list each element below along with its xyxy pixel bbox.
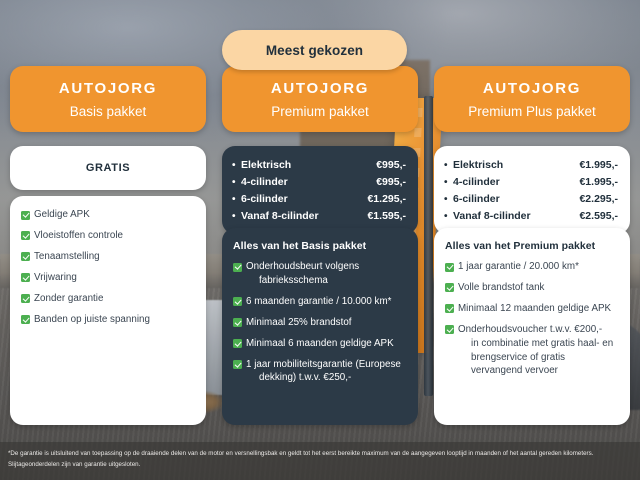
- plan-name-premium: Premium pakket: [230, 104, 410, 119]
- bullet-icon: •: [232, 177, 241, 188]
- price-row: •6-cilinder €1.295,-: [232, 190, 406, 207]
- feature-label: 1 jaar mobiliteitsgarantie (Europesedekk…: [246, 358, 401, 386]
- check-icon: [233, 339, 242, 348]
- check-icon: [445, 263, 454, 272]
- feature-item: 1 jaar garantie / 20.000 km*: [445, 260, 619, 274]
- check-icon: [21, 211, 30, 220]
- feature-label: Vrijwaring: [34, 271, 77, 285]
- bullet-icon: •: [444, 160, 453, 171]
- check-icon: [21, 252, 30, 261]
- feature-item: Tenaamstelling: [21, 250, 195, 264]
- price-row-label: •4-cilinder: [232, 176, 288, 188]
- feature-label: Onderhoudsvoucher t.w.v. €200,-in combin…: [458, 323, 619, 379]
- feature-item: Volle brandstof tank: [445, 281, 619, 295]
- price-row-label: •6-cilinder: [444, 193, 500, 205]
- feature-label: Banden op juiste spanning: [34, 313, 150, 327]
- feature-item: Vloeistoffen controle: [21, 229, 195, 243]
- bullet-icon: •: [444, 177, 453, 188]
- bullet-icon: •: [232, 211, 241, 222]
- price-row-label: •4-cilinder: [444, 176, 500, 188]
- feature-label: 6 maanden garantie / 10.000 km*: [246, 295, 392, 309]
- feature-item: Geldige APK: [21, 208, 195, 222]
- feature-label: Onderhoudsbeurt volgensfabrieksschema: [246, 260, 359, 288]
- plan-brand-basis: AUTOJORG: [18, 80, 198, 97]
- price-row-value: €1.995,-: [579, 176, 618, 188]
- bullet-icon: •: [444, 211, 453, 222]
- footer-disclaimer-text: *De garantie is uitsluitend van toepassi…: [8, 448, 632, 470]
- price-row-label: •Elektrisch: [444, 159, 503, 171]
- feature-label: Geldige APK: [34, 208, 90, 222]
- feature-item: Minimaal 6 maanden geldige APK: [233, 337, 407, 351]
- price-panel-basis: GRATIS: [10, 146, 206, 190]
- feature-item: 6 maanden garantie / 10.000 km*: [233, 295, 407, 309]
- price-row: •4-cilinder €995,-: [232, 173, 406, 190]
- feature-item: Zonder garantie: [21, 292, 195, 306]
- feature-item: Onderhoudsvoucher t.w.v. €200,-in combin…: [445, 323, 619, 379]
- feature-label: Volle brandstof tank: [458, 281, 544, 295]
- features-panel-premium-plus: Alles van het Premium pakket 1 jaar gara…: [434, 228, 630, 425]
- feature-label: Minimaal 6 maanden geldige APK: [246, 337, 394, 351]
- features-panel-premium: Alles van het Basis pakket Onderhoudsbeu…: [222, 228, 418, 425]
- feature-item: Banden op juiste spanning: [21, 313, 195, 327]
- price-row-value: €1.595,-: [367, 210, 406, 222]
- check-icon: [233, 318, 242, 327]
- feature-item: Minimaal 25% brandstof: [233, 316, 407, 330]
- check-icon: [445, 283, 454, 292]
- footer-disclaimer: *De garantie is uitsluitend van toepassi…: [0, 442, 640, 480]
- price-row-label: •6-cilinder: [232, 193, 288, 205]
- feature-label: Vloeistoffen controle: [34, 229, 123, 243]
- price-row: •Elektrisch €1.995,-: [444, 156, 618, 173]
- price-panel-premium-plus: •Elektrisch €1.995,- •4-cilinder €1.995,…: [434, 146, 630, 234]
- price-row-value: €995,-: [376, 176, 406, 188]
- plan-header-premium: AUTOJORG Premium pakket: [222, 66, 418, 132]
- pricing-board: Meest gekozen AUTOJORG Basis pakket GRAT…: [0, 0, 640, 480]
- price-row-value: €2.295,-: [579, 193, 618, 205]
- price-row-value: €995,-: [376, 159, 406, 171]
- plan-brand-premium: AUTOJORG: [230, 80, 410, 97]
- check-icon: [21, 231, 30, 240]
- price-row-value: €1.295,-: [367, 193, 406, 205]
- plan-header-basis: AUTOJORG Basis pakket: [10, 66, 206, 132]
- feature-item: Onderhoudsbeurt volgensfabrieksschema: [233, 260, 407, 288]
- price-row: •4-cilinder €1.995,-: [444, 173, 618, 190]
- most-chosen-badge-label: Meest gekozen: [266, 43, 363, 58]
- bullet-icon: •: [232, 194, 241, 205]
- feature-item: 1 jaar mobiliteitsgarantie (Europesedekk…: [233, 358, 407, 386]
- price-row: •Elektrisch €995,-: [232, 156, 406, 173]
- check-icon: [233, 263, 242, 272]
- price-row: •Vanaf 8-cilinder €1.595,-: [232, 207, 406, 224]
- price-row: •6-cilinder €2.295,-: [444, 190, 618, 207]
- check-icon: [21, 315, 30, 324]
- feature-label: Minimaal 12 maanden geldige APK: [458, 302, 611, 316]
- bullet-icon: •: [444, 194, 453, 205]
- price-row-label: •Vanaf 8-cilinder: [232, 210, 319, 222]
- plan-brand-premium-plus: AUTOJORG: [442, 80, 622, 97]
- check-icon: [233, 360, 242, 369]
- bullet-icon: •: [232, 160, 241, 171]
- price-basis-value: GRATIS: [86, 162, 130, 174]
- price-row-label: •Elektrisch: [232, 159, 291, 171]
- feature-item: Minimaal 12 maanden geldige APK: [445, 302, 619, 316]
- check-icon: [445, 325, 454, 334]
- plan-header-premium-plus: AUTOJORG Premium Plus pakket: [434, 66, 630, 132]
- price-row: •Vanaf 8-cilinder €2.595,-: [444, 207, 618, 224]
- features-title-premium: Alles van het Basis pakket: [233, 240, 407, 252]
- feature-label: Zonder garantie: [34, 292, 103, 306]
- check-icon: [21, 273, 30, 282]
- features-title-premium-plus: Alles van het Premium pakket: [445, 240, 619, 252]
- plan-name-basis: Basis pakket: [18, 104, 198, 119]
- check-icon: [21, 294, 30, 303]
- check-icon: [445, 304, 454, 313]
- feature-label: Tenaamstelling: [34, 250, 100, 264]
- feature-label: Minimaal 25% brandstof: [246, 316, 352, 330]
- price-row-value: €1.995,-: [579, 159, 618, 171]
- features-panel-basis: Geldige APK Vloeistoffen controle Tenaam…: [10, 196, 206, 425]
- most-chosen-badge: Meest gekozen: [222, 30, 407, 70]
- check-icon: [233, 297, 242, 306]
- price-panel-premium: •Elektrisch €995,- •4-cilinder €995,- •6…: [222, 146, 418, 234]
- price-row-label: •Vanaf 8-cilinder: [444, 210, 531, 222]
- plan-name-premium-plus: Premium Plus pakket: [442, 104, 622, 119]
- price-row-value: €2.595,-: [579, 210, 618, 222]
- feature-item: Vrijwaring: [21, 271, 195, 285]
- feature-label: 1 jaar garantie / 20.000 km*: [458, 260, 579, 274]
